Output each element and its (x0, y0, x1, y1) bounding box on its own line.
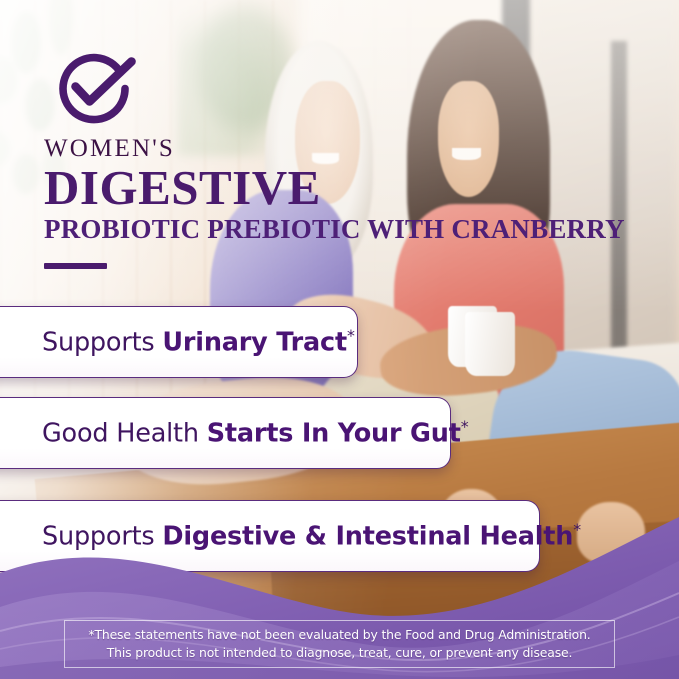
fda-disclaimer-text: *These statements have not been evaluate… (88, 626, 590, 661)
header-block: WOMEN'S DIGESTIVE PROBIOTIC PREBIOTIC WI… (44, 136, 644, 269)
benefit-prefix: Good Health (42, 419, 207, 449)
page-title: DIGESTIVE (44, 162, 644, 214)
benefit-highlight: Urinary Tract (162, 328, 347, 358)
benefit-label: Supports Urinary Tract* (0, 326, 379, 358)
fda-disclaimer-box: *These statements have not been evaluate… (64, 620, 615, 668)
header-eyebrow: WOMEN'S (44, 136, 644, 161)
header-divider (44, 263, 107, 269)
benefit-bar-urinary-tract: Supports Urinary Tract* (0, 306, 358, 378)
check-circle-icon (46, 42, 142, 134)
disclaimer-line-2: This product is not intended to diagnose… (107, 645, 573, 660)
benefit-highlight: Starts In Your Gut (207, 419, 461, 449)
benefit-asterisk: * (461, 417, 469, 436)
disclaimer-line-1: *These statements have not been evaluate… (88, 627, 590, 642)
benefit-bar-gut-health: Good Health Starts In Your Gut* (0, 397, 451, 469)
product-marketing-image: WOMEN'S DIGESTIVE PROBIOTIC PREBIOTIC WI… (0, 0, 679, 679)
header-subtitle: PROBIOTIC PREBIOTIC WITH CRANBERRY (44, 216, 644, 243)
benefit-asterisk: * (347, 326, 355, 345)
benefit-label: Good Health Starts In Your Gut* (0, 417, 492, 449)
benefit-prefix: Supports (42, 328, 162, 358)
